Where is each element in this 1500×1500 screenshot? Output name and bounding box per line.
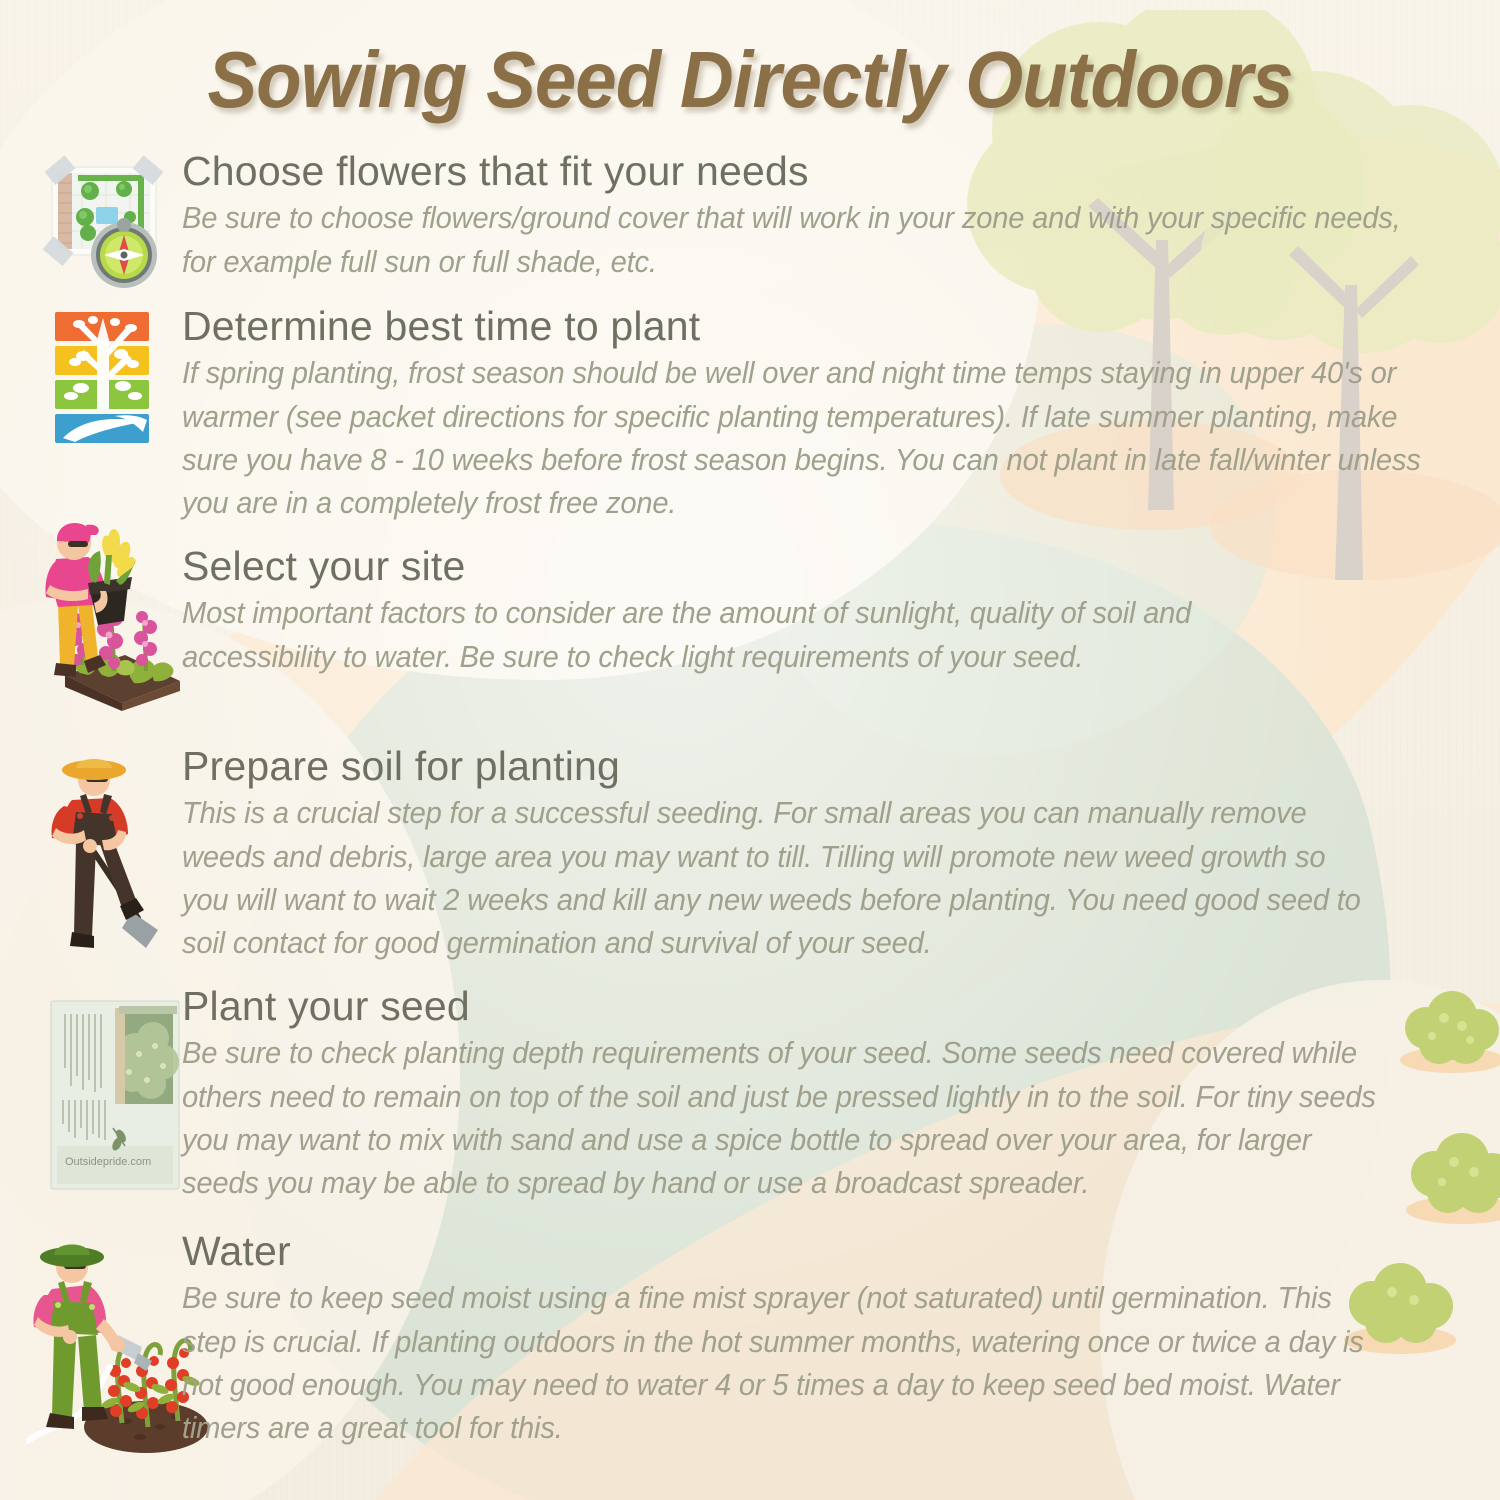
step-text: Plant your seed Be sure to check plantin… — [182, 985, 1442, 1206]
step-text: Select your site Most important factors … — [182, 545, 1442, 679]
step-heading: Prepare soil for planting — [182, 745, 1442, 788]
gardener-with-potted-flower-icon — [30, 505, 185, 725]
step-body: Be sure to check planting depth requirem… — [182, 1032, 1378, 1205]
four-seasons-tree-icon — [53, 310, 153, 460]
step-body: Most important factors to consider are t… — [182, 592, 1338, 679]
step-body: Be sure to choose flowers/ground cover t… — [182, 197, 1438, 284]
seed-packet-icon: Outsidepride.com — [46, 995, 181, 1200]
step-text: Prepare soil for planting This is a cruc… — [182, 745, 1442, 966]
step-heading: Water — [182, 1230, 1442, 1273]
step-text: Choose flowers that fit your needs Be su… — [182, 150, 1442, 284]
garden-plan-compass-icon — [38, 155, 170, 300]
gardener-digging-with-shovel-icon — [34, 750, 184, 970]
step-text: Water Be sure to keep seed moist using a… — [182, 1230, 1442, 1451]
infographic-poster: Sowing Seed Directly Outdoors — [0, 0, 1500, 1500]
step-body: This is a crucial step for a successful … — [182, 792, 1371, 965]
step-heading: Plant your seed — [182, 985, 1442, 1028]
step-heading: Select your site — [182, 545, 1442, 588]
step-text: Determine best time to plant If spring p… — [182, 305, 1442, 526]
page-title: Sowing Seed Directly Outdoors — [53, 34, 1448, 126]
step-heading: Determine best time to plant — [182, 305, 1442, 348]
step-body: If spring planting, frost season should … — [182, 352, 1443, 525]
step-heading: Choose flowers that fit your needs — [182, 150, 1442, 193]
step-body: Be sure to keep seed moist using a fine … — [182, 1277, 1378, 1450]
seed-packet-brand: Outsidepride.com — [65, 1156, 151, 1168]
